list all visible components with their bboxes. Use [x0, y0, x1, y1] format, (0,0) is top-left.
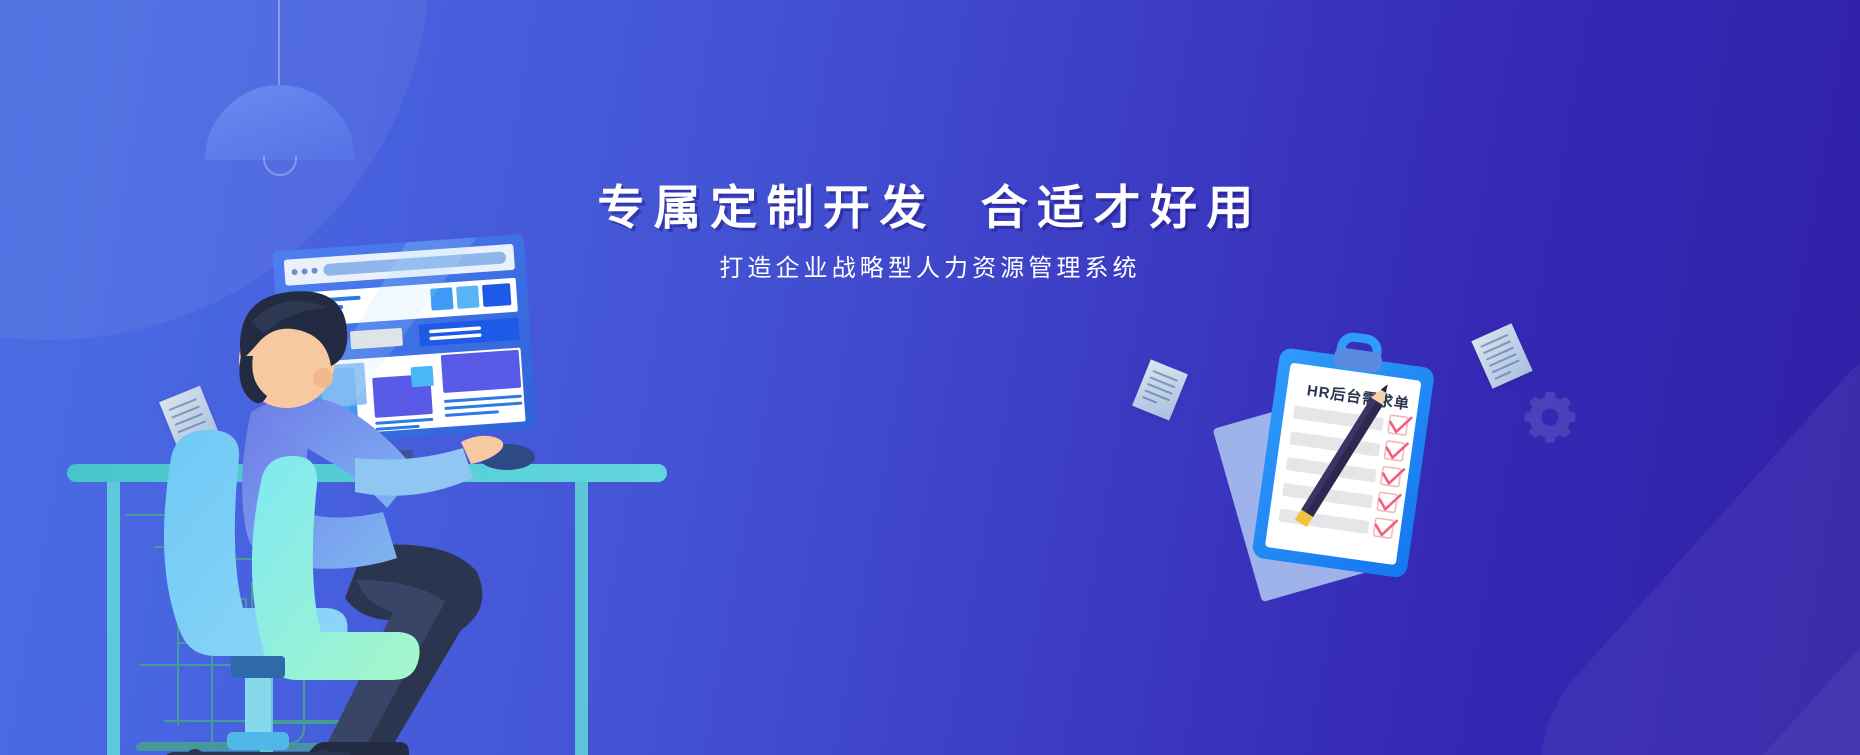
gear-icon	[1521, 390, 1579, 448]
developer-at-desk-illustration	[55, 60, 695, 755]
lamp-bulb	[263, 156, 297, 176]
lamp-cord	[278, 0, 280, 88]
floating-paper-icon	[1132, 359, 1188, 420]
decor-rounded-bar-b	[1623, 398, 1860, 755]
hero-banner: HR后台需求单	[0, 0, 1860, 755]
pendant-lamp	[205, 0, 355, 175]
page-title: 专属定制开发 合适才好用	[0, 180, 1860, 235]
clipboard: HR后台需求单	[1251, 327, 1438, 578]
headline-block: 专属定制开发 合适才好用 打造企业战略型人力资源管理系统	[0, 180, 1860, 285]
page-subtitle: 打造企业战略型人力资源管理系统	[0, 253, 1860, 284]
hr-clipboard-illustration: HR后台需求单	[1185, 310, 1515, 640]
lamp-shade	[205, 85, 355, 160]
decor-rounded-bar-a	[1478, 264, 1860, 755]
